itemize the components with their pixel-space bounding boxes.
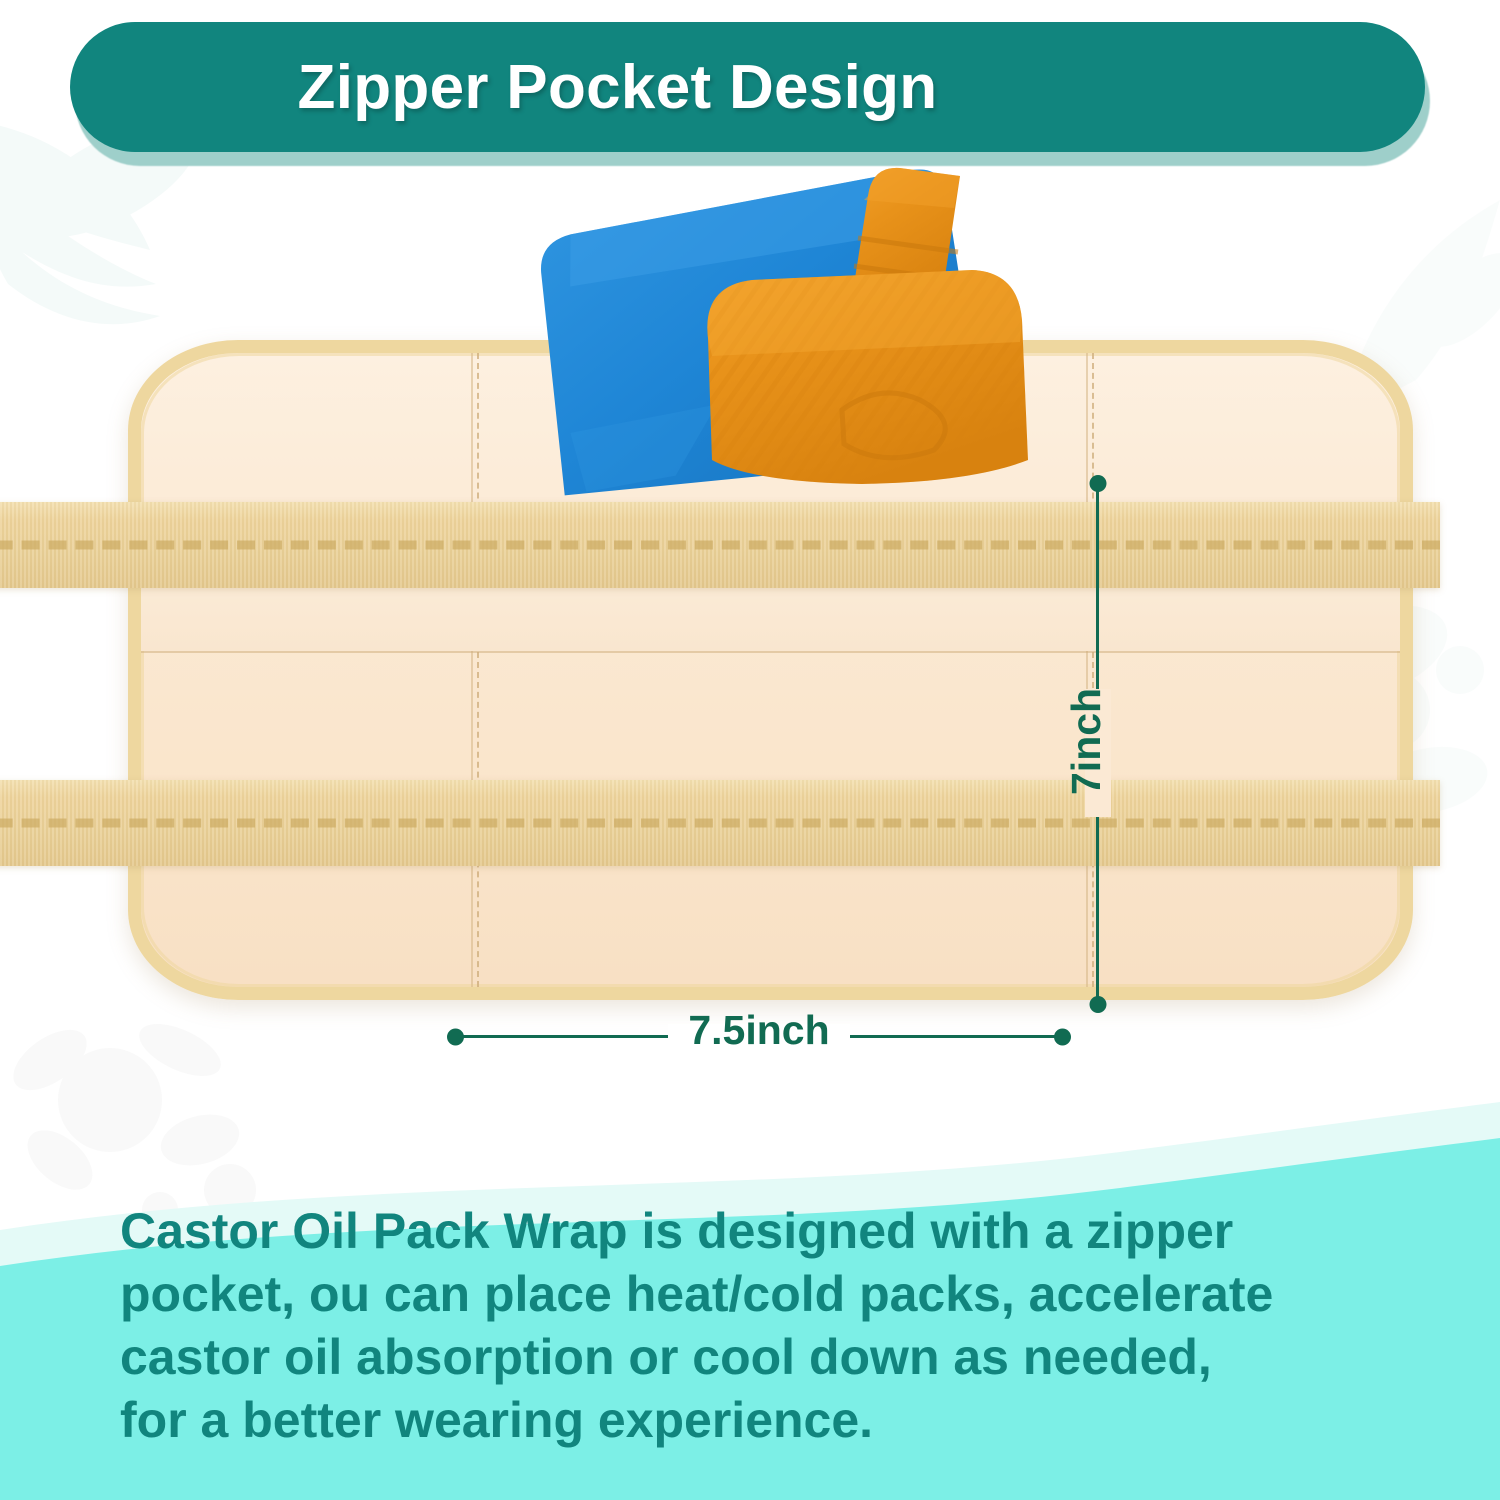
caption-line: pocket, ou can place heat/cold packs, ac…	[120, 1263, 1380, 1326]
wrap-strap-top	[0, 502, 1440, 588]
hot-water-bottle	[672, 160, 1052, 510]
dimension-endpoint-dot	[1089, 475, 1106, 492]
width-dimension-line: 7.5inch	[455, 1035, 1063, 1038]
wrap-strap-bottom	[0, 780, 1440, 866]
caption-line: for a better wearing experience.	[120, 1389, 1380, 1452]
height-dimension-label: 7inch	[1063, 688, 1110, 795]
caption-line: Castor Oil Pack Wrap is designed with a …	[120, 1200, 1380, 1263]
caption-line: castor oil absorption or cool down as ne…	[120, 1326, 1380, 1389]
caption-block: Castor Oil Pack Wrap is designed with a …	[0, 1200, 1500, 1500]
page-title: Zipper Pocket Design	[298, 52, 938, 123]
dimension-endpoint-dot	[1089, 996, 1106, 1013]
product-photo: 7inch 7.5inch	[0, 150, 1500, 1070]
header-banner: Zipper Pocket Design	[70, 22, 1425, 152]
width-dimension-label: 7.5inch	[455, 1007, 1063, 1054]
